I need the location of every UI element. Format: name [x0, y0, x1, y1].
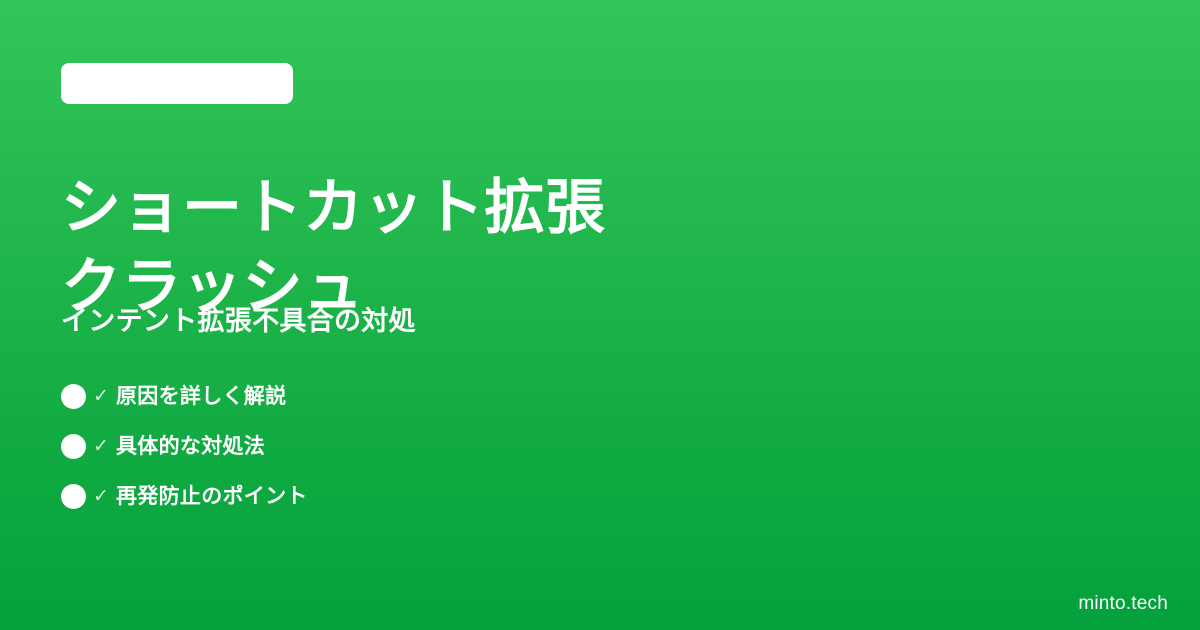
filled-circle-icon — [61, 484, 86, 509]
og-card: ショートカット拡張 クラッシュ インテント拡張不具合の対処 ✓ 原因を詳しく解説… — [0, 0, 1200, 630]
list-item-label: 具体的な対処法 — [116, 436, 265, 457]
check-icon: ✓ — [86, 387, 116, 406]
list-item-label: 再発防止のポイント — [116, 486, 308, 507]
check-icon: ✓ — [86, 487, 116, 506]
list-item: ✓ 再発防止のポイント — [61, 481, 308, 511]
page-title-line-1: ショートカット拡張 — [61, 168, 1131, 247]
list-item: ✓ 原因を詳しく解説 — [61, 381, 308, 411]
site-watermark: minto.tech — [1078, 594, 1168, 613]
filled-circle-icon — [61, 434, 86, 459]
list-item-label: 原因を詳しく解説 — [116, 386, 286, 407]
filled-circle-icon — [61, 384, 86, 409]
list-item: ✓ 具体的な対処法 — [61, 431, 308, 461]
feature-list: ✓ 原因を詳しく解説 ✓ 具体的な対処法 ✓ 再発防止のポイント — [61, 381, 308, 511]
category-badge — [61, 63, 293, 104]
page-subtitle: インテント拡張不具合の対処 — [61, 303, 416, 339]
check-icon: ✓ — [86, 437, 116, 456]
